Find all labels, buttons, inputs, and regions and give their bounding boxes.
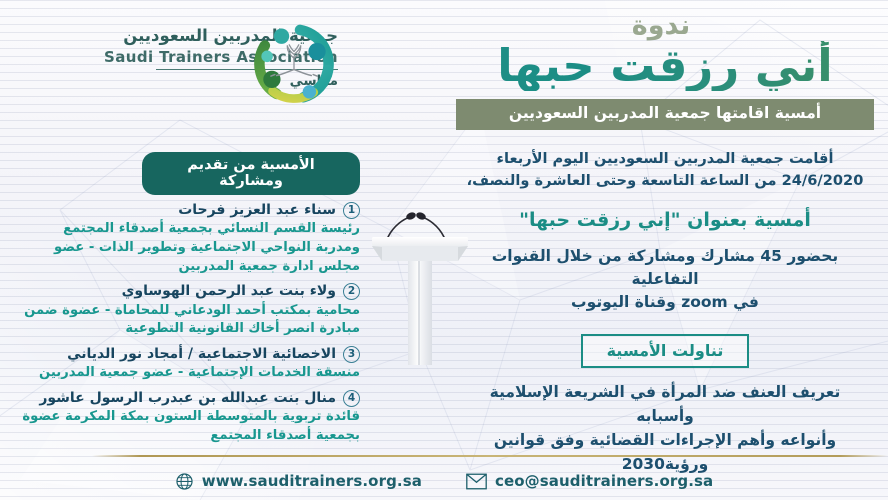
footer-email[interactable]: ceo@sauditrainers.org.sa [466, 472, 713, 490]
speaker-entry: 2 ولاء بنت عبد الرحمن الهوساوي محامية بم… [8, 282, 360, 339]
poster-footer: www.sauditrainers.org.sa ceo@sauditraine… [0, 462, 888, 500]
speakers-section-heading: الأمسية من تقديم ومشاركة [142, 152, 360, 195]
speaker-role: منسقة الخدمات الإجتماعية - عضو جمعية الم… [12, 364, 360, 383]
speaker-entry: 3 الاخصائية الاجتماعية / أمجاد نور الديا… [8, 345, 360, 383]
event-session-title: أمسية بعنوان "إني رزقت حبها" [456, 208, 874, 233]
speaker-role: قائدة تربوية بالمتوسطة الستون بمكة المكر… [12, 408, 360, 445]
saudi-trainers-circular-emblem-icon [246, 16, 342, 112]
topics-heading-box: تناولت الأمسية [581, 334, 749, 368]
hero-and-details-column: ندوة أني رزقت حبها أمسية اقامتها جمعية ا… [456, 10, 874, 476]
speaker-name: ولاء بنت عبد الرحمن الهوساوي [122, 282, 336, 300]
event-kicker: ندوة [456, 12, 866, 39]
event-poster: جمعية المدربين السعوديين Saudi Trainers … [0, 0, 888, 500]
footer-website-text: www.sauditrainers.org.sa [202, 472, 422, 490]
speaker-role: محامية بمكتب أحمد الودعاني للمحاماة - عض… [12, 302, 360, 339]
envelope-icon [466, 473, 487, 490]
speaker-name: سناء عبد العزيز فرحات [178, 201, 336, 219]
speaker-number-badge: 1 [343, 202, 360, 219]
footer-gold-divider [92, 455, 888, 457]
attendance-line-2: في zoom وقناة اليوتوب [456, 291, 874, 314]
speaker-entry: 4 منال بنت عبدالله بن عبدرب الرسول عاشور… [8, 389, 360, 446]
topic-line-1: تعريف العنف ضد المرأة في الشريعة الإسلام… [460, 380, 870, 428]
speaker-name: منال بنت عبدالله بن عبدرب الرسول عاشور [39, 389, 336, 407]
event-intro-paragraph: أقامت جمعية المدربين السعوديين اليوم الأ… [456, 148, 874, 192]
speaker-role: رئيسة القسم النسائي بجمعية أصدقاء المجتم… [12, 220, 360, 276]
attendance-line-1: بحضور 45 مشارك ومشاركة من خلال القنوات ا… [456, 245, 874, 292]
speaker-name: الاخصائية الاجتماعية / أمجاد نور الدياني [67, 345, 336, 363]
speaker-header: 1 سناء عبد العزيز فرحات [12, 201, 360, 219]
speaker-header: 2 ولاء بنت عبد الرحمن الهوساوي [12, 282, 360, 300]
speaker-header: 3 الاخصائية الاجتماعية / أمجاد نور الديا… [12, 345, 360, 363]
footer-website[interactable]: www.sauditrainers.org.sa [175, 472, 422, 491]
speaker-number-badge: 3 [343, 346, 360, 363]
event-title: أني رزقت حبها [456, 41, 874, 91]
speakers-column: الأمسية من تقديم ومشاركة 1 سناء عبد العز… [8, 152, 360, 446]
event-attendance-info: بحضور 45 مشارك ومشاركة من خلال القنوات ا… [456, 245, 874, 315]
speaker-entry: 1 سناء عبد العزيز فرحات رئيسة القسم النس… [8, 201, 360, 276]
speaker-number-badge: 4 [343, 390, 360, 407]
speaker-number-badge: 2 [343, 283, 360, 300]
footer-email-text: ceo@sauditrainers.org.sa [495, 472, 713, 490]
speaker-header: 4 منال بنت عبدالله بن عبدرب الرسول عاشور [12, 389, 360, 407]
globe-icon [175, 472, 194, 491]
event-subtitle-band: أمسية اقامتها جمعية المدربين السعوديين [456, 99, 874, 130]
